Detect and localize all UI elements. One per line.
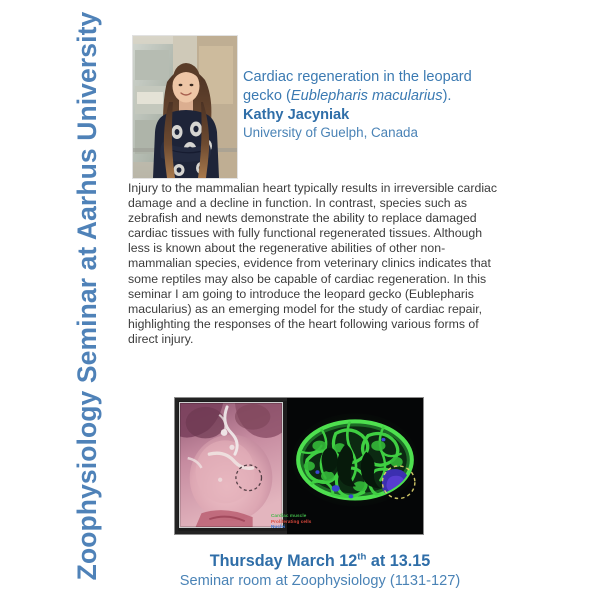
legend-item-cardiac-muscle: Cardiac muscle	[271, 513, 311, 519]
speaker-photo-graphic	[133, 36, 237, 178]
gross-anatomy-graphic	[180, 403, 282, 527]
talk-title: Cardiac regeneration in the leopard geck…	[243, 68, 553, 105]
speaker-photo	[132, 35, 238, 179]
figure-panel-gross-anatomy	[179, 402, 283, 528]
event-date-time: Thursday March 12th at 13.15	[100, 551, 540, 571]
speaker-affiliation: University of Guelph, Canada	[243, 124, 553, 141]
talk-title-line2-suffix: ).	[443, 88, 452, 104]
talk-title-line1: Cardiac regeneration in the leopard	[243, 69, 472, 85]
talk-title-block: Cardiac regeneration in the leopard geck…	[243, 68, 553, 141]
talk-title-line2-prefix: gecko (	[243, 88, 291, 104]
speaker-name: Kathy Jacyniak	[243, 106, 553, 124]
abstract-text: Injury to the mammalian heart typically …	[128, 181, 500, 347]
seminar-series-title: Zoophysiology Seminar at Aarhus Universi…	[64, 26, 110, 566]
figure-legend: Cardiac muscle Proliferating cells Nucle…	[271, 513, 311, 530]
event-time-suffix: at 13.15	[366, 552, 430, 570]
event-room: Seminar room at Zoophysiology (1131-127)	[100, 572, 540, 591]
seminar-poster: Zoophysiology Seminar at Aarhus Universi…	[0, 0, 600, 600]
event-date-ordinal: th	[357, 552, 366, 563]
legend-item-nuclei: Nuclei	[271, 524, 311, 530]
research-figure: Cardiac muscle Proliferating cells Nucle…	[174, 397, 424, 535]
event-details: Thursday March 12th at 13.15 Seminar roo…	[100, 551, 540, 591]
talk-species-name: Eublepharis macularius	[291, 88, 443, 104]
event-date-prefix: Thursday March 12	[210, 552, 358, 570]
